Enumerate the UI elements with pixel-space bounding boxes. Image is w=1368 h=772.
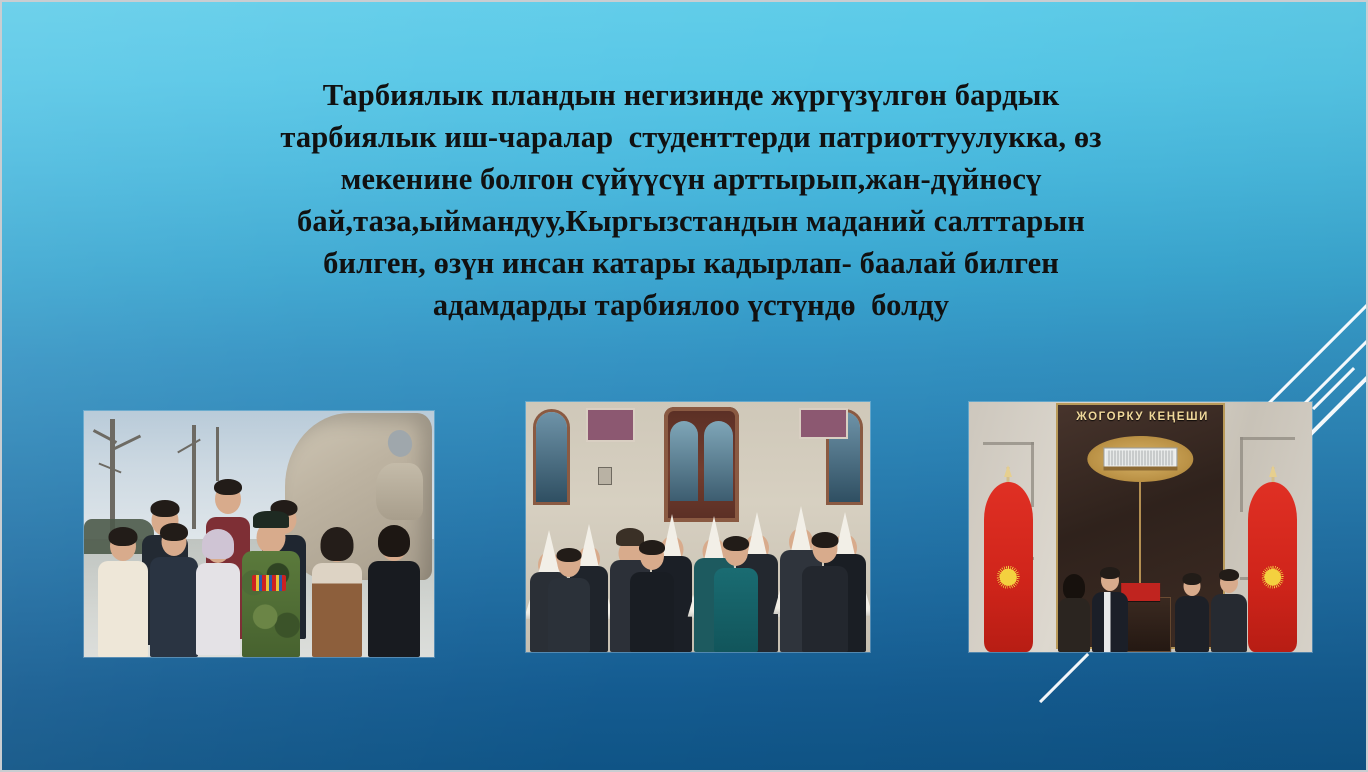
hair — [723, 536, 749, 551]
parliament-emblem — [1088, 436, 1193, 482]
entrance-door — [664, 407, 740, 522]
monument-opening — [385, 427, 415, 459]
student-man-3 — [1211, 568, 1247, 652]
suit-jacket — [1092, 592, 1128, 652]
jacket — [630, 572, 674, 652]
person-kalpak-f3 — [714, 536, 758, 652]
photo-kalpak-group — [526, 402, 870, 652]
kyrgyz-flag-left — [979, 467, 1037, 652]
marble-groove-5 — [1240, 437, 1295, 440]
tunduk-sun-emblem — [997, 566, 1020, 589]
person-front-3 — [312, 527, 362, 657]
hair — [151, 500, 180, 517]
person-veteran — [242, 507, 300, 657]
photo-parliament-hall: ЖОГОРКУ КЕҢЕШИ — [969, 402, 1312, 652]
coat-black — [368, 561, 420, 657]
title-line-6: адамдарды тарбиялоо үстүндө болду — [186, 284, 1196, 326]
wall-fixture — [598, 467, 612, 485]
parliament-sign-text: ЖОГОРКУ КЕҢЕШИ — [1076, 411, 1204, 423]
hair — [214, 479, 242, 495]
parliament-building-relief — [1104, 448, 1178, 471]
title-line-5: билген, өзүн инсан катары кадырлап- баал… — [186, 242, 1196, 284]
memorial-plaque-left — [588, 410, 633, 440]
title-line-3: мекенине болгон сүйүүсүн арттырып,жан-дү… — [186, 158, 1196, 200]
flag-cloth — [984, 482, 1033, 652]
diagonal-line-front-1 — [1312, 367, 1355, 410]
camouflage-uniform — [242, 551, 300, 657]
flag-finial — [1269, 465, 1277, 477]
coat-cream — [98, 561, 148, 657]
hair — [109, 527, 138, 546]
title-line-1: Тарбиялык пландын негизинде жүргүзүлгөн … — [186, 74, 1196, 116]
person-front-hijab — [196, 529, 240, 655]
tunduk-sun-emblem — [1261, 566, 1284, 589]
person-kalpak-f4 — [802, 532, 848, 652]
door-pane-left — [670, 421, 699, 502]
hair — [1219, 569, 1239, 581]
hair — [378, 525, 410, 557]
jacket — [802, 566, 848, 652]
jacket — [548, 578, 590, 652]
hair — [1183, 573, 1202, 585]
hair — [321, 527, 354, 561]
hijab — [202, 529, 234, 559]
coat-brown-shearling — [312, 563, 362, 657]
student-man-2 — [1175, 572, 1209, 652]
marble-groove-1 — [983, 442, 1034, 445]
title-line-2: тарбиялык иш-чаралар студенттерди патрио… — [186, 116, 1196, 158]
outfit-dark — [1058, 598, 1090, 652]
hair — [812, 532, 839, 548]
memorial-plaque-right — [801, 410, 846, 438]
hair — [639, 540, 665, 555]
building-base — [1104, 466, 1178, 470]
slide-title: Тарбиялык пландын негизинде жүргүзүлгөн … — [186, 74, 1196, 326]
title-line-4: бай,таза,ыймандуу,Кыргызстандын маданий … — [186, 200, 1196, 242]
hair — [557, 548, 582, 562]
building-columns — [1107, 451, 1175, 466]
flag-finial — [1004, 465, 1012, 477]
hair — [160, 523, 188, 541]
student-man-suit — [1092, 566, 1128, 652]
person-front-2 — [150, 523, 198, 657]
jacket-dark — [1175, 596, 1209, 652]
coat-light — [196, 563, 240, 655]
lamp-post — [216, 427, 219, 481]
person-front-1 — [98, 527, 148, 657]
person-kalpak-f1 — [548, 548, 590, 652]
hair — [1100, 567, 1120, 579]
jacket-dark — [1211, 594, 1247, 652]
military-cap — [253, 511, 289, 528]
photo-war-memorial-group — [84, 411, 434, 657]
person-kalpak-f2 — [630, 540, 674, 652]
flag-cloth — [1248, 482, 1297, 652]
diagonal-line-4 — [1039, 653, 1089, 703]
presentation-slide: Тарбиялык пландын негизинде жүргүзүлгөн … — [0, 0, 1368, 772]
window-left — [536, 412, 567, 502]
hair — [1063, 574, 1085, 600]
person-front-4 — [368, 525, 420, 657]
student-woman — [1058, 574, 1090, 652]
tracksuit-teal — [714, 568, 758, 652]
kyrgyz-flag-right — [1243, 467, 1301, 652]
monument-figures — [376, 463, 423, 520]
medals — [252, 575, 286, 591]
jacket-dark — [150, 557, 198, 657]
door-pane-right — [704, 421, 733, 502]
